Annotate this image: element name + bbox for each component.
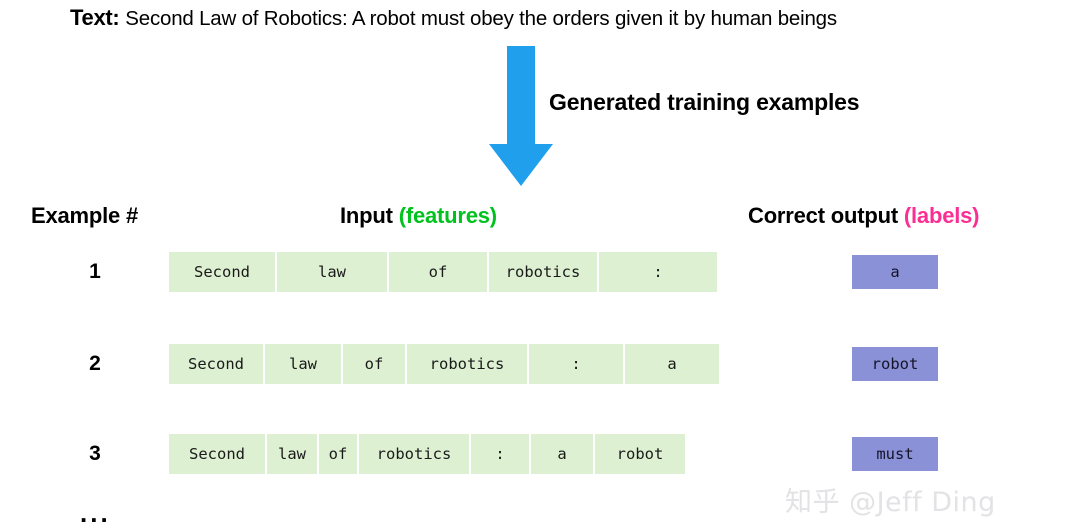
column-header-output-main: Correct output xyxy=(748,203,898,228)
down-arrow-icon xyxy=(487,46,557,186)
column-header-output: Correct output (labels) xyxy=(748,203,979,229)
column-header-input: Input (features) xyxy=(340,203,497,229)
feature-token: robotics xyxy=(489,252,597,292)
feature-token: a xyxy=(625,344,719,384)
feature-token: robot xyxy=(595,434,685,474)
feature-token: robotics xyxy=(407,344,527,384)
column-header-input-accent: (features) xyxy=(399,203,497,228)
watermark: 知乎 @Jeff Ding xyxy=(785,480,996,519)
feature-token: : xyxy=(529,344,623,384)
feature-token-strip: Secondlawofrobotics:a xyxy=(169,344,719,384)
feature-token: Second xyxy=(169,434,265,474)
feature-token: Second xyxy=(169,252,275,292)
feature-token: of xyxy=(389,252,487,292)
label-box: must xyxy=(852,437,938,471)
label-box: a xyxy=(852,255,938,289)
feature-token: law xyxy=(265,344,341,384)
example-row: 1 Secondlawofrobotics: a xyxy=(0,252,1065,292)
feature-token: of xyxy=(343,344,405,384)
continuation-ellipsis: ... xyxy=(80,498,111,528)
label-box: robot xyxy=(852,347,938,381)
feature-token: a xyxy=(531,434,593,474)
row-index: 1 xyxy=(78,252,112,292)
feature-token: robotics xyxy=(359,434,469,474)
column-header-input-main: Input xyxy=(340,203,393,228)
column-header-output-accent: (labels) xyxy=(904,203,979,228)
feature-token: law xyxy=(277,252,387,292)
feature-token: : xyxy=(599,252,717,292)
source-label: Text: xyxy=(70,5,119,30)
example-row: 2 Secondlawofrobotics:a robot xyxy=(0,344,1065,384)
source-sentence: Second Law of Robotics: A robot must obe… xyxy=(125,7,837,30)
feature-token: : xyxy=(471,434,529,474)
feature-token-strip: Secondlawofrobotics: xyxy=(169,252,717,292)
feature-token: Second xyxy=(169,344,263,384)
source-text-line: Text: Second Law of Robotics: A robot mu… xyxy=(70,4,837,33)
row-index: 2 xyxy=(78,344,112,384)
column-header-example: Example # xyxy=(31,203,138,229)
example-row: 3 Secondlawofrobotics:arobot must xyxy=(0,434,1065,474)
feature-token: of xyxy=(319,434,357,474)
arrow-caption: Generated training examples xyxy=(549,89,859,116)
feature-token-strip: Secondlawofrobotics:arobot xyxy=(169,434,685,474)
row-index: 3 xyxy=(78,434,112,474)
feature-token: law xyxy=(267,434,317,474)
